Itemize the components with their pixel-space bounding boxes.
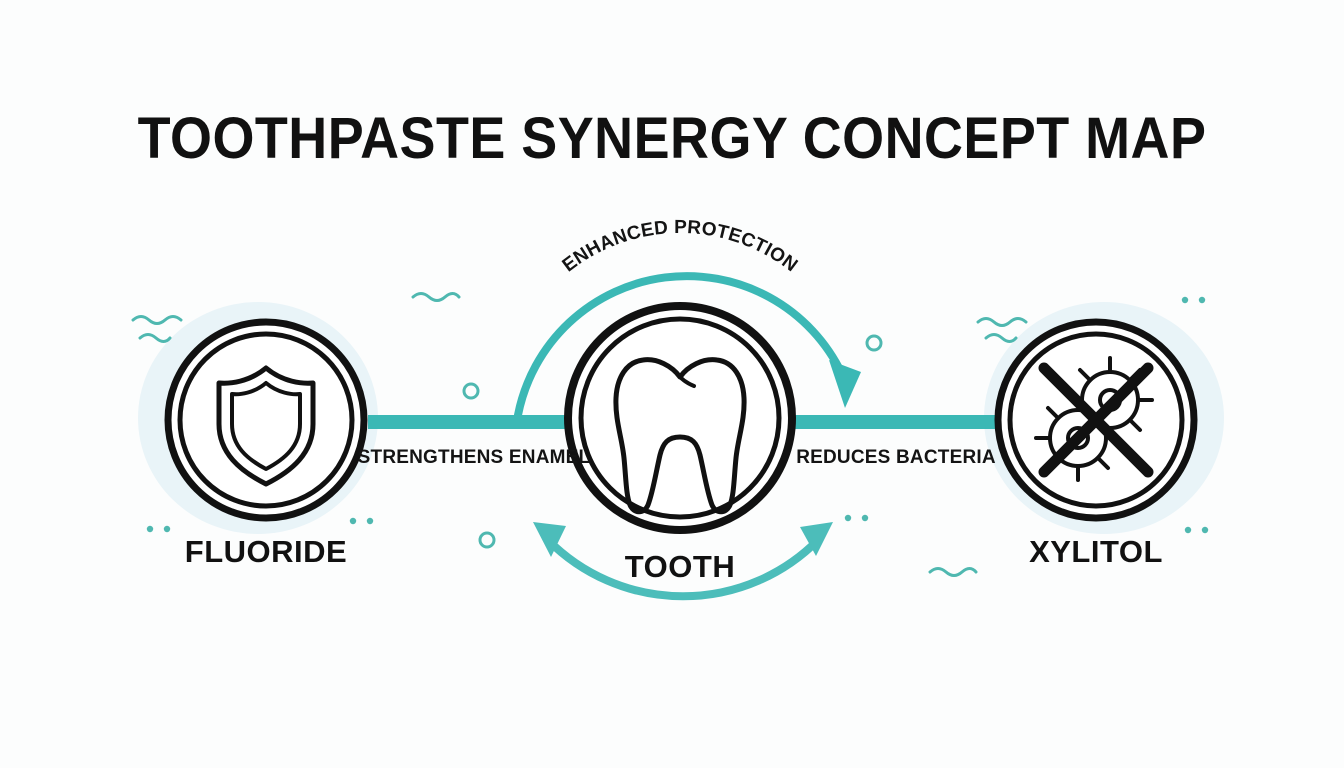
ring-icon — [464, 384, 478, 398]
dot-icon — [1202, 527, 1208, 533]
dot-icon — [862, 515, 868, 521]
node-label-xylitol: XYLITOL — [1029, 534, 1163, 569]
node-tooth[interactable]: TOOTH — [568, 306, 792, 584]
arc-label-enhanced-protection: ENHANCED PROTECTION — [559, 217, 802, 276]
concept-map-canvas: TOOTHPASTE SYNERGY CONCEPT MAP ENHANCED … — [0, 0, 1344, 768]
connector-bar-fluoride-tooth[interactable] — [368, 415, 568, 429]
squiggle-icon — [978, 319, 1026, 326]
connector-bar-tooth-xylitol[interactable] — [795, 415, 995, 429]
dot-icon — [350, 518, 356, 524]
dot-icon — [164, 526, 170, 532]
squiggle-icon — [140, 335, 170, 342]
arc-label-textpath: ENHANCED PROTECTION — [559, 217, 802, 276]
page-title: TOOTHPASTE SYNERGY CONCEPT MAP — [138, 105, 1207, 170]
ring-icon — [480, 533, 494, 547]
edge-label-strengthens-enamel: STRENGTHENS ENAMEL — [358, 447, 591, 468]
node-label-fluoride: FLUORIDE — [185, 534, 347, 569]
edge-label-reduces-bacteria: REDUCES BACTERIA — [796, 447, 996, 468]
squiggle-icon — [930, 569, 976, 576]
fluoride-outer-ring — [168, 322, 364, 518]
dot-icon — [1199, 297, 1205, 303]
dot-icon — [367, 518, 373, 524]
ring-icon — [867, 336, 881, 350]
dot-icon — [1182, 297, 1188, 303]
dot-icon — [845, 515, 851, 521]
tooth-outer-ring — [568, 306, 792, 530]
dot-icon — [147, 526, 153, 532]
arrowhead-down-icon — [829, 360, 861, 408]
concept-map-diagram: TOOTHPASTE SYNERGY CONCEPT MAP ENHANCED … — [0, 0, 1344, 768]
dot-icon — [1185, 527, 1191, 533]
node-label-tooth: TOOTH — [625, 549, 735, 584]
squiggle-icon — [413, 294, 459, 301]
squiggle-icon — [986, 335, 1016, 342]
squiggle-icon — [133, 317, 181, 324]
